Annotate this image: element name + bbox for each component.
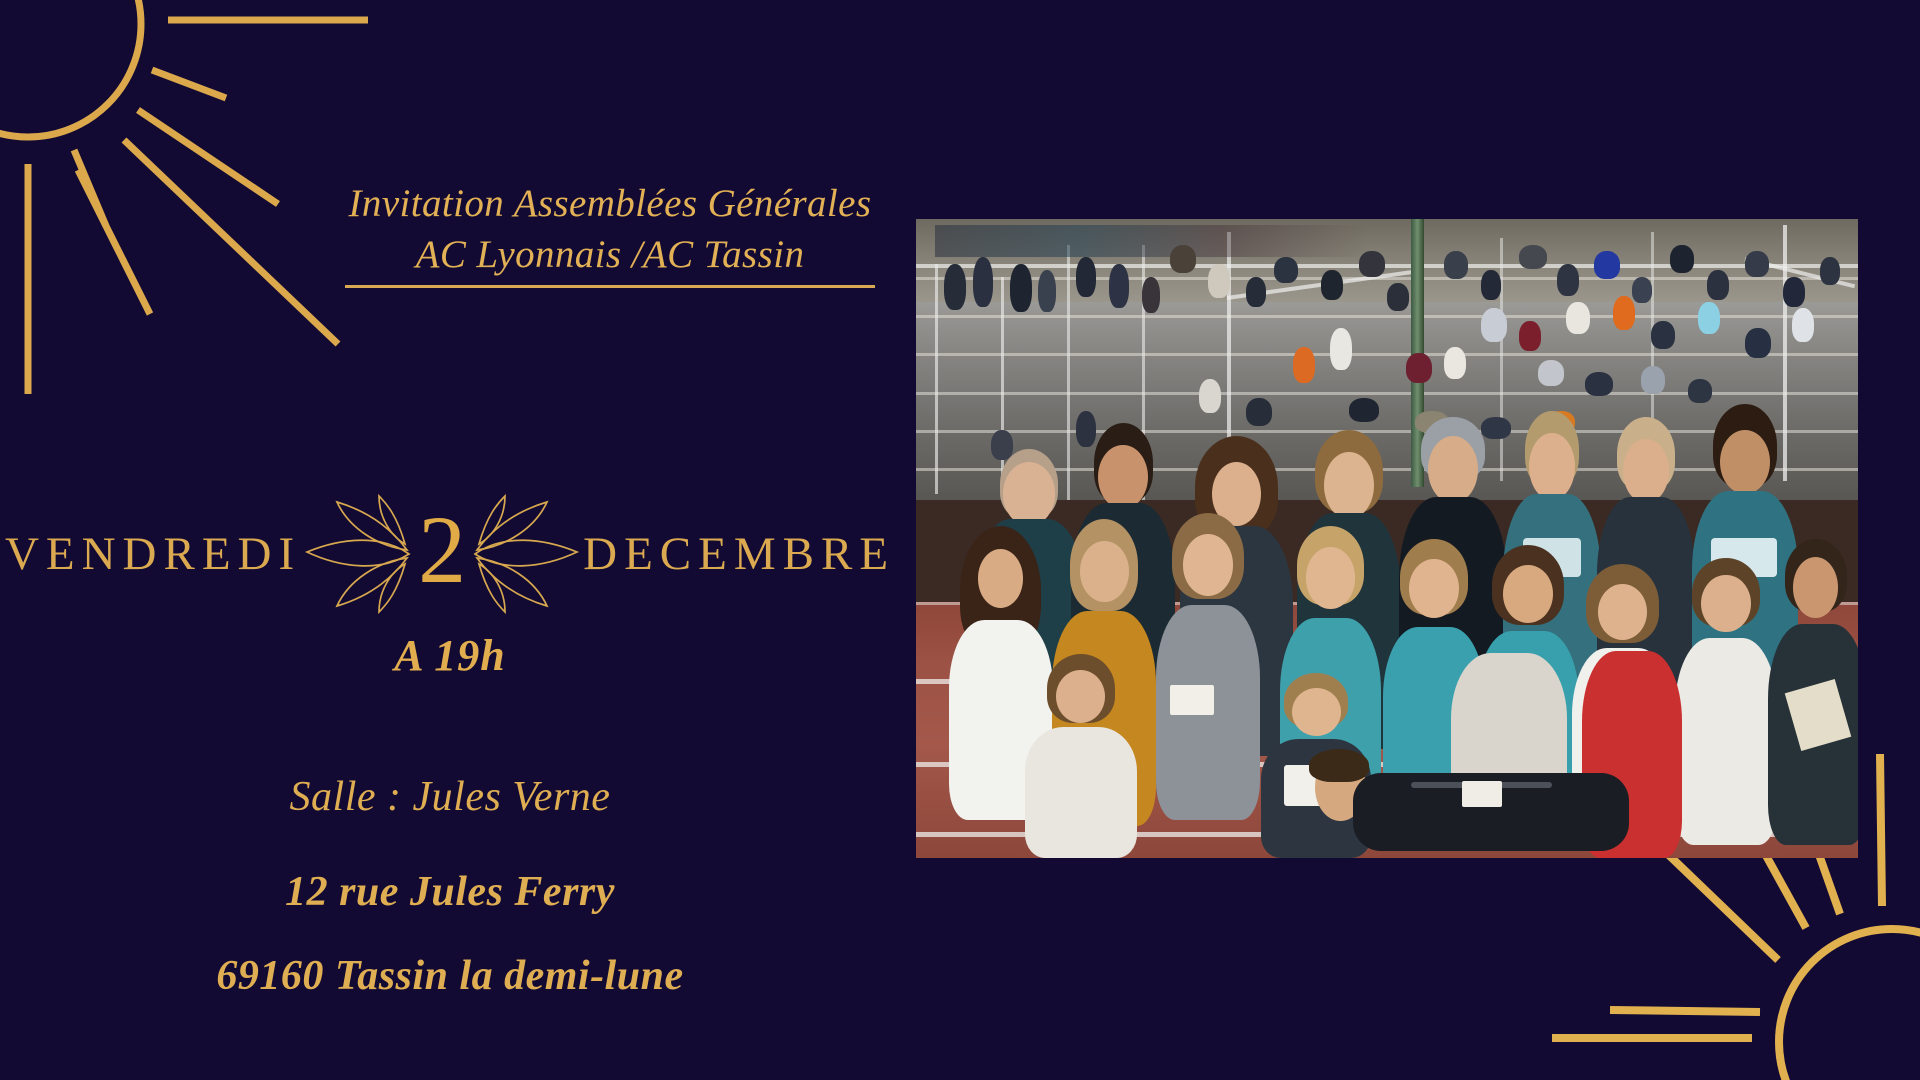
- date-day-number: 2: [416, 502, 468, 598]
- title-line-2: AC Lyonnais /AC Tassin: [300, 229, 920, 280]
- date-weekday: VENDREDI: [5, 527, 301, 581]
- title-divider: [345, 285, 875, 288]
- address-venue: Salle : Jules Verne: [0, 773, 900, 821]
- event-date-row: VENDREDI 2 DECEMBRE: [0, 494, 900, 614]
- address-street: 12 rue Jules Ferry: [0, 868, 900, 916]
- event-time: A 19h: [0, 630, 900, 681]
- team-photo: [916, 219, 1858, 858]
- title-line-1: Invitation Assemblées Générales: [300, 178, 920, 229]
- floral-flourish-icon: [468, 494, 583, 614]
- poster-title: Invitation Assemblées Générales AC Lyonn…: [300, 178, 920, 288]
- poster-canvas: Invitation Assemblées Générales AC Lyonn…: [0, 0, 1920, 1080]
- floral-flourish-icon: [301, 494, 416, 614]
- address-city: 69160 Tassin la demi-lune: [0, 952, 900, 1000]
- date-month: DECEMBRE: [583, 527, 895, 581]
